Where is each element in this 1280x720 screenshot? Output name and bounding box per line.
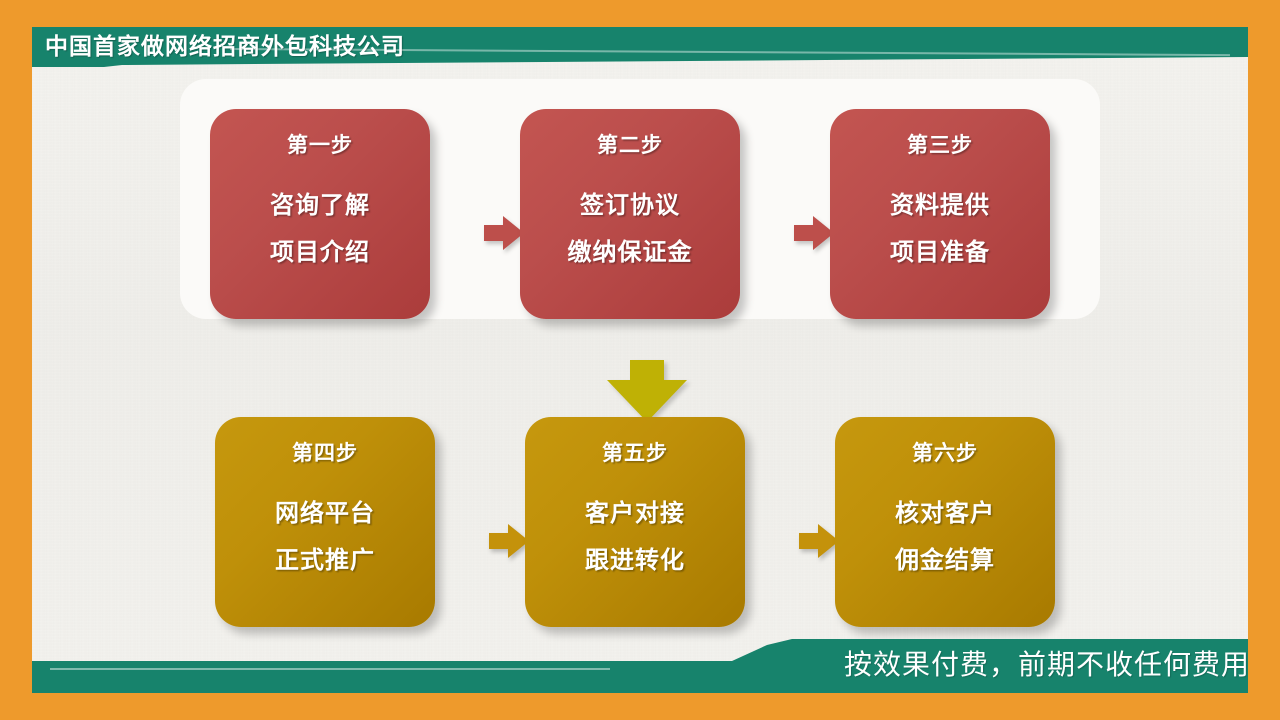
step-card-2-line-1: 签订协议	[580, 185, 680, 220]
arrow-head	[607, 380, 687, 422]
arrow-right-icon-step2-step3	[794, 216, 834, 250]
step-card-3-title: 第三步	[907, 129, 973, 159]
step-card-6-body: 核对客户 佣金结算	[895, 493, 995, 575]
step-card-2-title: 第二步	[597, 129, 663, 159]
slide-root: 中国首家做网络招商外包科技公司 第一步 咨询了解 项目介绍 第二步 签订协议 缴…	[0, 0, 1280, 720]
step-card-3-body: 资料提供 项目准备	[890, 185, 990, 267]
step-card-5-title: 第五步	[602, 437, 668, 467]
step-card-2-body: 签订协议 缴纳保证金	[568, 185, 693, 267]
arrow-shaft	[630, 360, 664, 382]
arrow-right-icon-step5-step6	[799, 524, 839, 558]
step-card-5-line-2: 跟进转化	[585, 540, 685, 575]
step-card-4-title: 第四步	[292, 437, 358, 467]
step-card-1-body: 咨询了解 项目介绍	[270, 185, 370, 267]
step-card-1-title: 第一步	[287, 129, 353, 159]
step-card-4-line-2: 正式推广	[275, 540, 375, 575]
arrow-shaft	[799, 533, 820, 549]
step-card-6-title: 第六步	[912, 437, 978, 467]
step-card-6-line-2: 佣金结算	[895, 540, 995, 575]
footer-tagline: 按效果付费，前期不收任何费用	[844, 645, 1248, 685]
footer-hairline-decoration	[50, 668, 610, 670]
step-card-5-body: 客户对接 跟进转化	[585, 493, 685, 575]
step-card-2-line-2: 缴纳保证金	[568, 232, 693, 267]
arrow-right-icon-step4-step5	[489, 524, 529, 558]
page-title: 中国首家做网络招商外包科技公司	[45, 31, 405, 63]
step-card-6[interactable]: 第六步 核对客户 佣金结算	[835, 417, 1055, 627]
step-card-3-line-2: 项目准备	[890, 232, 990, 267]
step-card-2[interactable]: 第二步 签订协议 缴纳保证金	[520, 109, 740, 319]
arrow-right-icon-step1-step2	[484, 216, 524, 250]
step-card-4-body: 网络平台 正式推广	[275, 493, 375, 575]
step-card-6-line-1: 核对客户	[895, 493, 995, 528]
step-card-4[interactable]: 第四步 网络平台 正式推广	[215, 417, 435, 627]
step-card-1-line-1: 咨询了解	[270, 185, 370, 220]
step-card-1-line-2: 项目介绍	[270, 232, 370, 267]
step-card-3[interactable]: 第三步 资料提供 项目准备	[830, 109, 1050, 319]
arrow-shaft	[484, 225, 505, 241]
step-card-4-line-1: 网络平台	[275, 493, 375, 528]
step-card-5-line-1: 客户对接	[585, 493, 685, 528]
step-card-5[interactable]: 第五步 客户对接 跟进转化	[525, 417, 745, 627]
slide-canvas: 中国首家做网络招商外包科技公司 第一步 咨询了解 项目介绍 第二步 签订协议 缴…	[32, 27, 1248, 693]
step-card-3-line-1: 资料提供	[890, 185, 990, 220]
arrow-down-icon-row1-row2	[607, 360, 687, 422]
arrow-shaft	[489, 533, 510, 549]
step-card-1[interactable]: 第一步 咨询了解 项目介绍	[210, 109, 430, 319]
arrow-shaft	[794, 225, 815, 241]
